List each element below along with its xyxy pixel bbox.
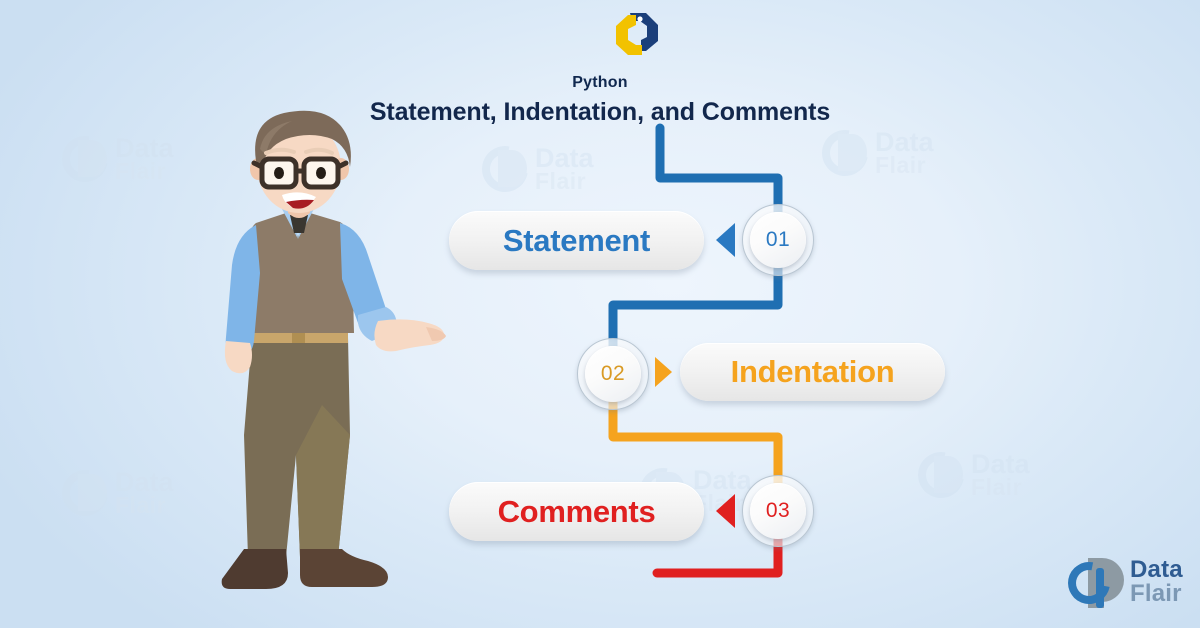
step-card-comments[interactable]: Comments [449, 482, 704, 541]
badge-face: 03 [750, 483, 806, 539]
step-card-statement[interactable]: Statement [449, 211, 704, 270]
badge-face: 02 [585, 346, 641, 402]
step-badge-03[interactable]: 03 [742, 475, 814, 547]
step-card-indentation[interactable]: Indentation [680, 343, 945, 401]
dataflair-mark-icon [1068, 556, 1124, 610]
step-label-statement: Statement [503, 223, 650, 259]
triangle-left-icon [716, 223, 735, 257]
triangle-left-icon [716, 494, 735, 528]
triangle-right-icon [655, 357, 672, 387]
dataflair-logo: Data Flair [1068, 552, 1194, 614]
step-number-01: 01 [766, 228, 790, 252]
brand-name-secondary: Flair [1130, 582, 1183, 606]
step-label-comments: Comments [498, 494, 656, 530]
badge-face: 01 [750, 212, 806, 268]
step-number-03: 03 [766, 499, 790, 523]
cartoon-man-presenting [200, 105, 460, 605]
brand-name-primary: Data [1130, 558, 1183, 582]
step-label-indentation: Indentation [731, 354, 895, 390]
step-badge-02[interactable]: 02 [577, 338, 649, 410]
step-badge-01[interactable]: 01 [742, 204, 814, 276]
infographic-canvas: DataFlairDataFlairDataFlairDataFlairData… [0, 0, 1200, 628]
step-number-02: 02 [601, 362, 625, 386]
